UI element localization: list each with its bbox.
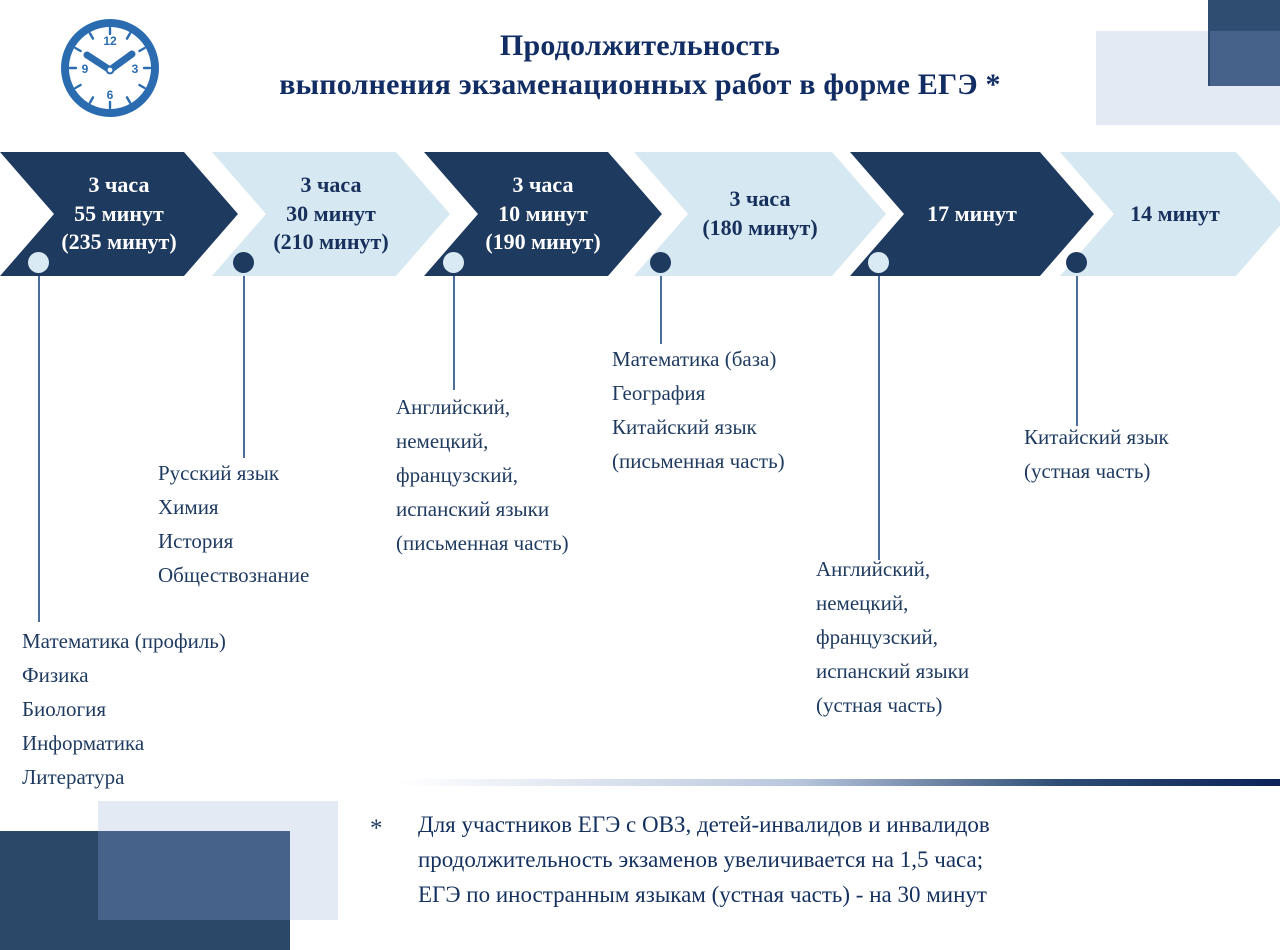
chevron-duration-1: 3 часа55 минут(235 минут) xyxy=(61,171,176,257)
subject-item: (устная часть) xyxy=(1024,454,1169,488)
chevron-duration-4: 3 часа(180 минут) xyxy=(702,185,817,242)
page-title: Продолжительность выполнения экзаменацио… xyxy=(180,26,1100,104)
chevron-duration-line: (235 минут) xyxy=(61,228,176,257)
decor-rect-top-right-mid xyxy=(1210,31,1280,86)
subject-item: Информатика xyxy=(22,726,226,760)
clock-mark-12: 12 xyxy=(103,34,117,48)
connector-dot-2 xyxy=(233,252,254,273)
footnote-divider xyxy=(398,779,1280,786)
chevron-duration-6: 14 минут xyxy=(1130,200,1220,229)
subject-item: французский, xyxy=(816,620,969,654)
chevron-band: 3 часа55 минут(235 минут)3 часа30 минут(… xyxy=(0,152,1280,276)
subject-item: немецкий, xyxy=(816,586,969,620)
chevron-duration-2: 3 часа30 минут(210 минут) xyxy=(273,171,388,257)
chevron-duration-line: 17 минут xyxy=(927,200,1017,229)
chevron-duration-line: 3 часа xyxy=(702,185,817,214)
subject-item: Математика (профиль) xyxy=(22,624,226,658)
chevron-duration-line: 3 часа xyxy=(273,171,388,200)
subject-item: Обществознание xyxy=(158,558,309,592)
page-title-line-1: Продолжительность xyxy=(180,26,1100,65)
chevron-duration-line: (190 минут) xyxy=(485,228,600,257)
subject-list-5: Английский,немецкий,французский,испански… xyxy=(816,552,969,722)
chevron-duration-line: 10 минут xyxy=(485,200,600,229)
subject-item: испанский языки xyxy=(396,492,569,526)
chevron-duration-line: (210 минут) xyxy=(273,228,388,257)
subject-item: (письменная часть) xyxy=(612,444,785,478)
connector-dot-6 xyxy=(1066,252,1087,273)
subject-item: французский, xyxy=(396,458,569,492)
chevron-duration-line: 14 минут xyxy=(1130,200,1220,229)
chevron-duration-line: (180 минут) xyxy=(702,214,817,243)
footnote-line: продолжительность экзаменов увеличиваетс… xyxy=(418,843,990,878)
chevron-duration-line: 30 минут xyxy=(273,200,388,229)
subject-item: Химия xyxy=(158,490,309,524)
clock-mark-9: 9 xyxy=(82,62,89,76)
connector-line-1 xyxy=(38,276,40,622)
clock-mark-3: 3 xyxy=(132,62,139,76)
chevron-duration-3: 3 часа10 минут(190 минут) xyxy=(485,171,600,257)
page-title-line-2: выполнения экзаменационных работ в форме… xyxy=(180,65,1100,104)
subject-list-2: Русский языкХимияИсторияОбществознание xyxy=(158,456,309,592)
subject-item: История xyxy=(158,524,309,558)
clock-mark-6: 6 xyxy=(107,88,114,102)
connector-line-5 xyxy=(878,276,880,560)
subject-item: Литература xyxy=(22,760,226,794)
infographic-page: 12 3 6 9 Продолжительность выполнения эк… xyxy=(0,0,1280,950)
connector-line-4 xyxy=(660,276,662,344)
connector-dot-1 xyxy=(28,252,49,273)
subject-item: немецкий, xyxy=(396,424,569,458)
subject-item: Китайский язык xyxy=(1024,420,1169,454)
subject-item: Английский, xyxy=(816,552,969,586)
subject-item: (письменная часть) xyxy=(396,526,569,560)
subject-item: Русский язык xyxy=(158,456,309,490)
footnote-text: Для участников ЕГЭ с ОВЗ, детей-инвалидо… xyxy=(418,808,990,913)
subject-item: Китайский язык xyxy=(612,410,785,444)
subject-item: Физика xyxy=(22,658,226,692)
footnote-line: Для участников ЕГЭ с ОВЗ, детей-инвалидо… xyxy=(418,808,990,843)
clock-icon: 12 3 6 9 xyxy=(56,14,164,122)
chevron-duration-line: 55 минут xyxy=(61,200,176,229)
subject-list-4: Математика (база)ГеографияКитайский язык… xyxy=(612,342,785,478)
subject-item: Биология xyxy=(22,692,226,726)
connector-line-2 xyxy=(243,276,245,458)
connector-dot-4 xyxy=(650,252,671,273)
connector-dot-5 xyxy=(868,252,889,273)
chevron-duration-line: 3 часа xyxy=(61,171,176,200)
chevron-step-4[interactable]: 3 часа(180 минут) xyxy=(634,152,886,276)
subject-item: География xyxy=(612,376,785,410)
footnote: * Для участников ЕГЭ с ОВЗ, детей-инвали… xyxy=(370,808,1270,913)
decor-rect-bottom-left-mid xyxy=(98,831,290,920)
subject-item: Математика (база) xyxy=(612,342,785,376)
subject-item: (устная часть) xyxy=(816,688,969,722)
subject-item: испанский языки xyxy=(816,654,969,688)
chevron-duration-5: 17 минут xyxy=(927,200,1017,229)
connector-line-6 xyxy=(1076,276,1078,426)
subject-list-3: Английский,немецкий,французский,испански… xyxy=(396,390,569,560)
subject-list-6: Китайский язык(устная часть) xyxy=(1024,420,1169,488)
chevron-duration-line: 3 часа xyxy=(485,171,600,200)
subject-item: Английский, xyxy=(396,390,569,424)
subject-list-1: Математика (профиль)ФизикаБиологияИнформ… xyxy=(22,624,226,794)
footnote-line: ЕГЭ по иностранным языкам (устная часть)… xyxy=(418,878,990,913)
connector-dot-3 xyxy=(443,252,464,273)
footnote-asterisk: * xyxy=(370,808,394,913)
connector-line-3 xyxy=(453,276,455,390)
